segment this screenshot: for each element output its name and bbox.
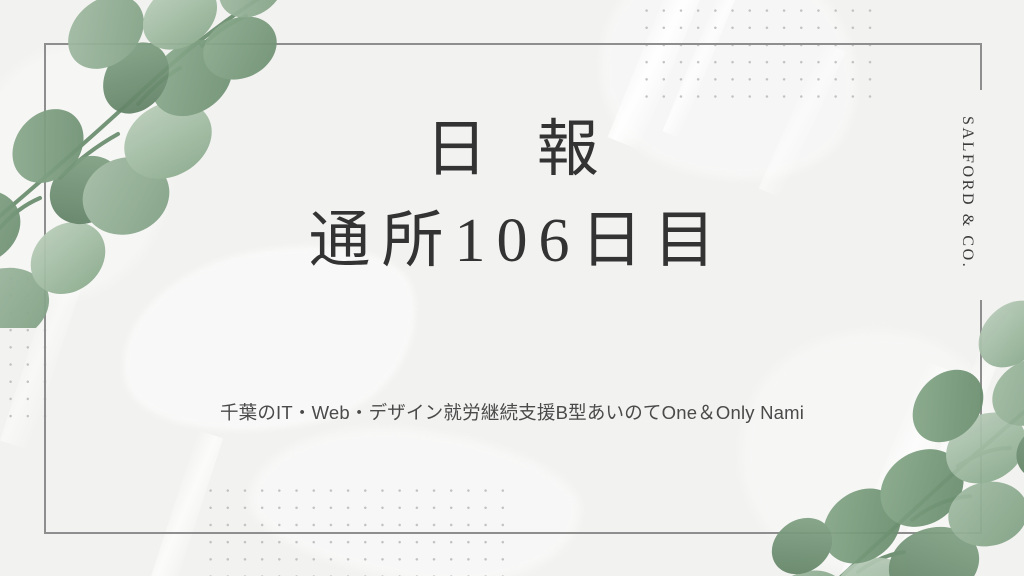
frame-border-bottom [44,532,981,534]
title-slide: SALFORD & CO. 日 報 通所106日目 千葉のIT・Web・デザイン… [0,0,1024,576]
page-subtitle: 千葉のIT・Web・デザイン就労継続支援B型あいのてOne＆Only Nami [150,396,874,430]
frame-border-right-lower [980,300,982,534]
frame-border-right-upper [980,43,982,90]
page-title-line2: 通所106日目 [0,209,1024,274]
frame-border-left [44,43,46,534]
page-title-line1: 日 報 [0,118,1024,183]
frame-border-top [44,43,981,45]
slide-background [0,0,1024,576]
title-block: 日 報 通所106日目 [0,118,1024,274]
